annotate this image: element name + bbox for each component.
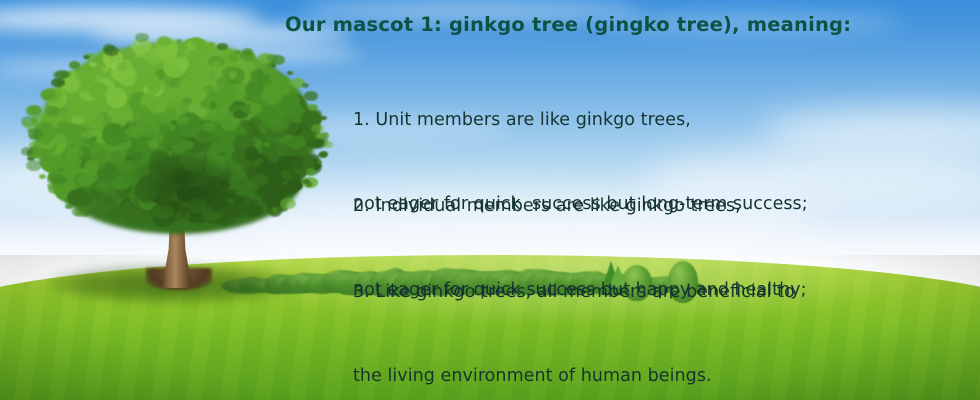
paragraph-line: 1. Unit members are like ginkgo trees, <box>353 106 808 134</box>
banner-title: Our mascot 1: ginkgo tree (gingko tree),… <box>285 13 851 36</box>
banner-copy: Our mascot 1: ginkgo tree (gingko tree),… <box>0 0 980 300</box>
paragraph-line: the living environment of human beings. <box>353 362 795 390</box>
paragraph-line: 3. Like ginkgo trees, all members are be… <box>353 278 795 306</box>
mascot-banner: Our mascot 1: ginkgo tree (gingko tree),… <box>0 0 980 400</box>
paragraph-line: 2. Individual members are like ginkgo tr… <box>353 192 807 220</box>
mascot-meaning-item-3: 3. Like ginkgo trees, all members are be… <box>353 222 795 400</box>
